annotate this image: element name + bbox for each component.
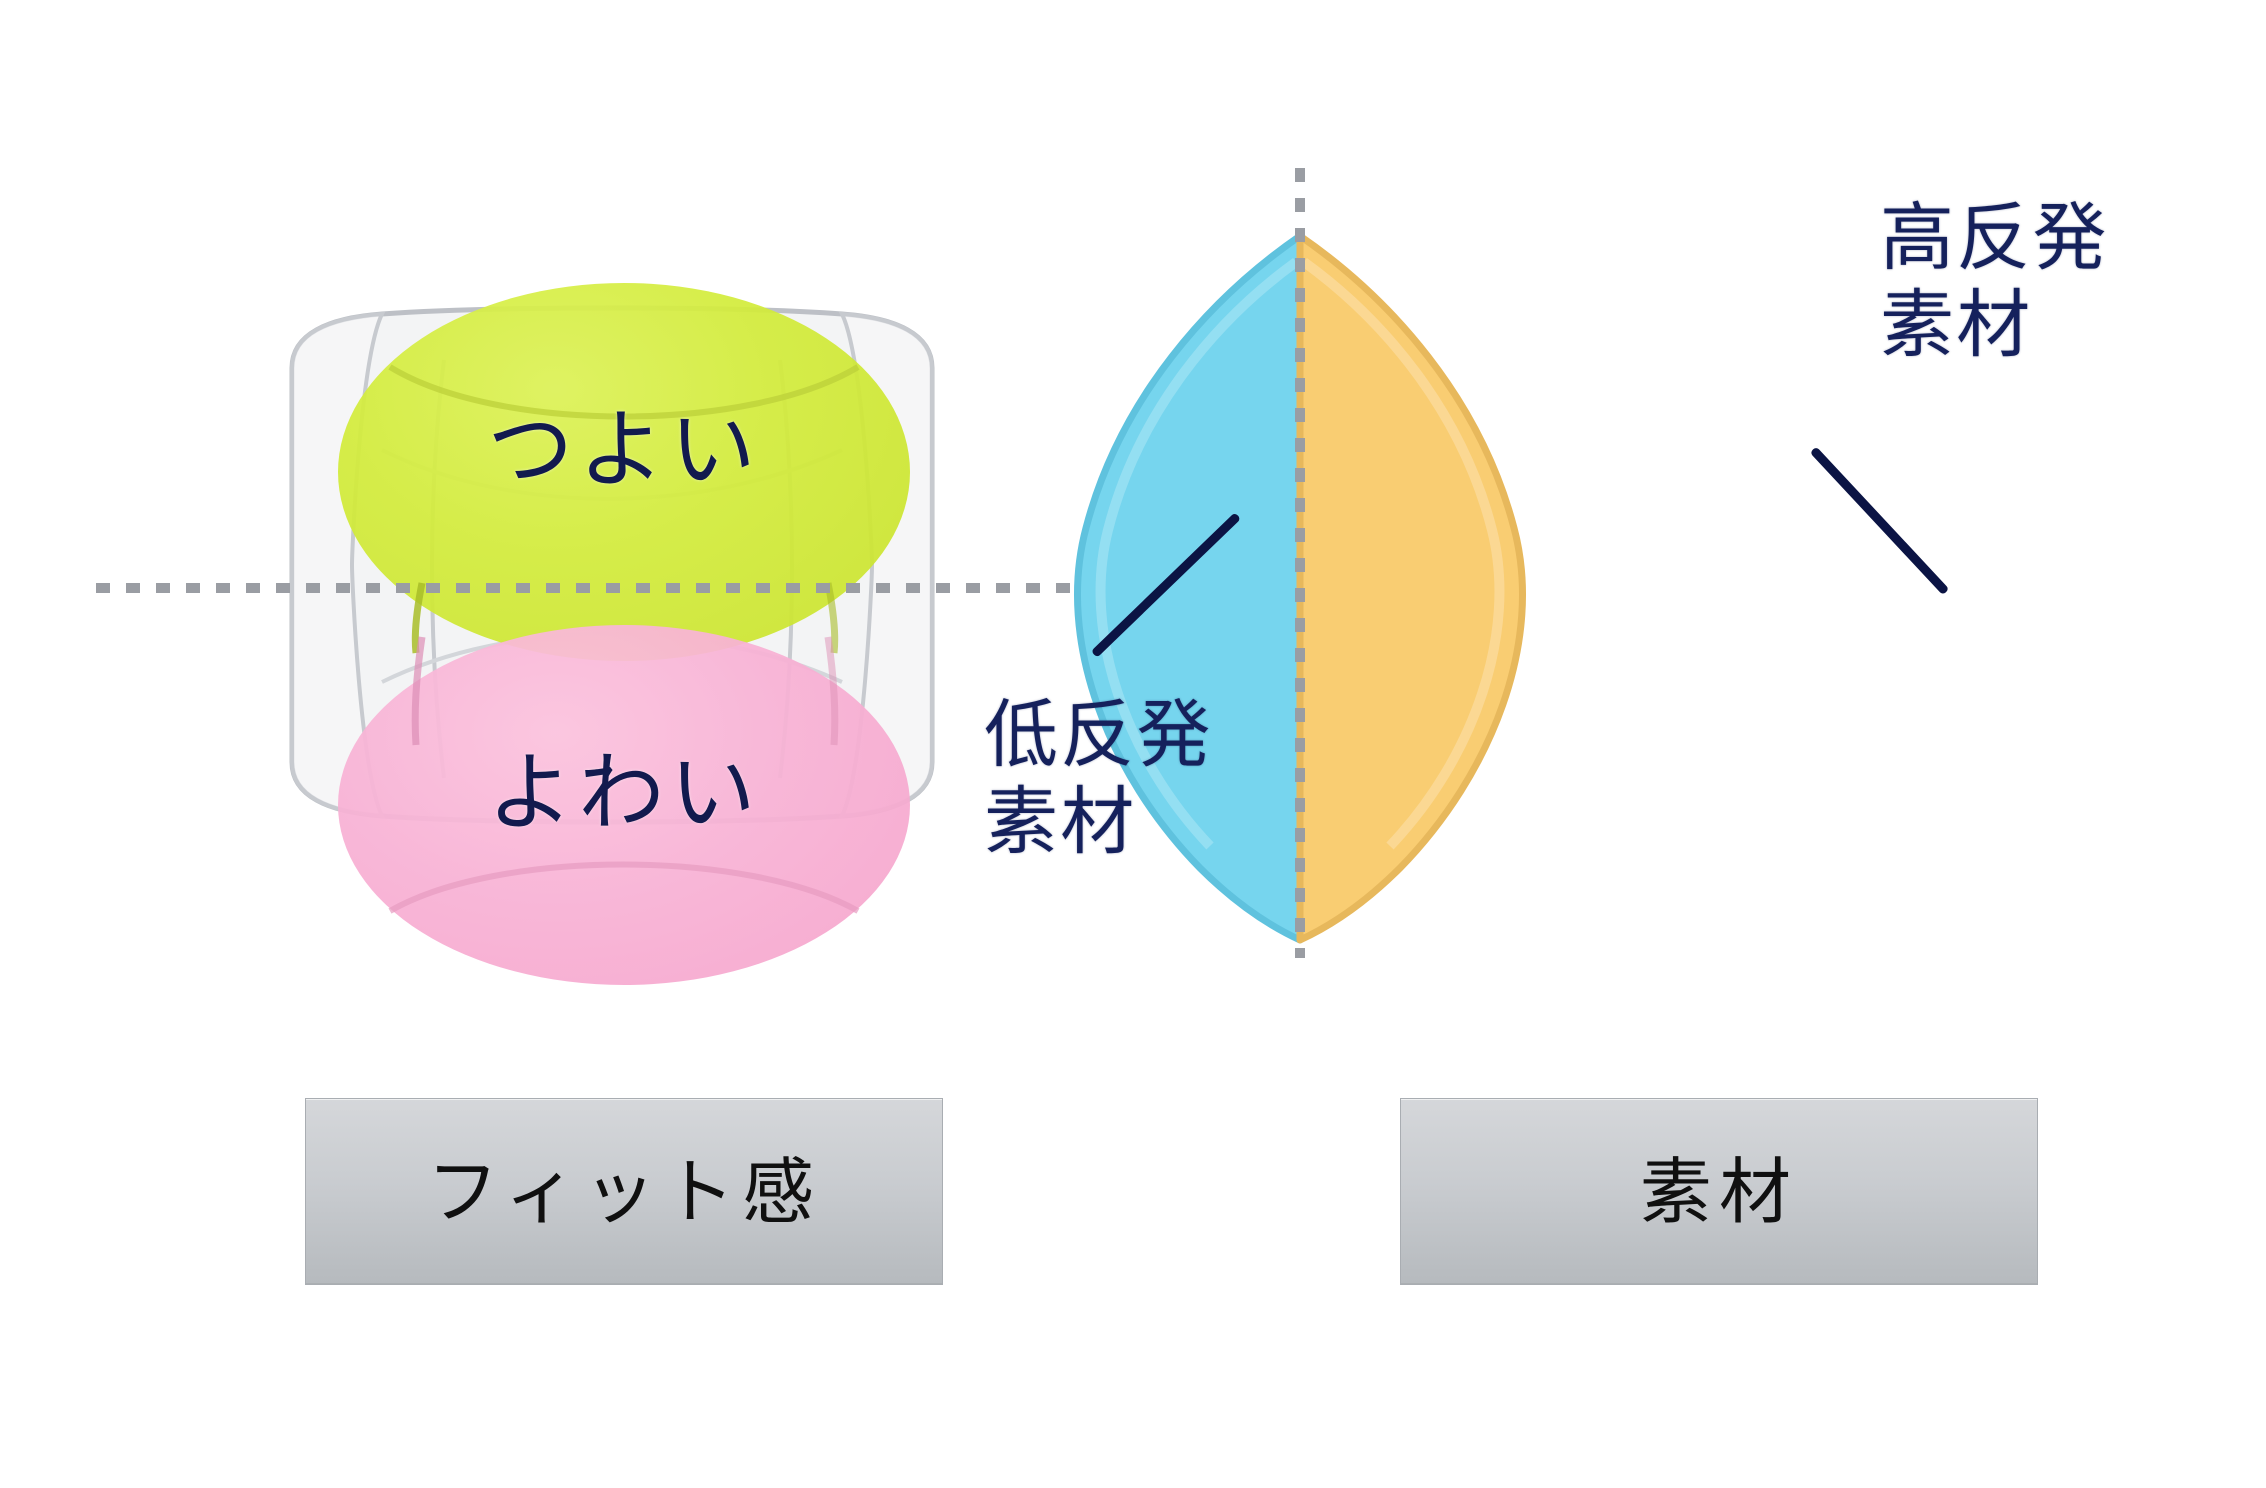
high-rebound-label: 高反発 素材: [1880, 195, 2109, 370]
blob-weak-label: よわい: [338, 722, 910, 847]
blob-strong-label: つよい: [338, 379, 910, 504]
low-rebound-label-text: 低反発 素材: [984, 692, 1213, 865]
fit-caption-label: フィット感: [427, 1156, 822, 1228]
high-rebound-leader-line: [1810, 446, 1950, 595]
high-rebound-label-text: 高反発 素材: [1880, 195, 2109, 368]
material-caption-label: 素材: [1640, 1156, 1798, 1228]
material-panel: 高反発 素材 低反発 素材 素材: [1140, 0, 2266, 1488]
fit-panel: つよい よわい フィット感: [0, 0, 1140, 1488]
material-caption-plate: 素材: [1400, 1098, 2038, 1285]
fit-caption-plate: フィット感: [305, 1098, 943, 1285]
diagram-canvas: つよい よわい フィット感 高反発 素材: [0, 0, 2266, 1488]
horizontal-center-axis: [96, 583, 1166, 593]
vertical-center-axis: [1295, 168, 1305, 958]
low-rebound-label: 低反発 素材: [984, 692, 1213, 867]
